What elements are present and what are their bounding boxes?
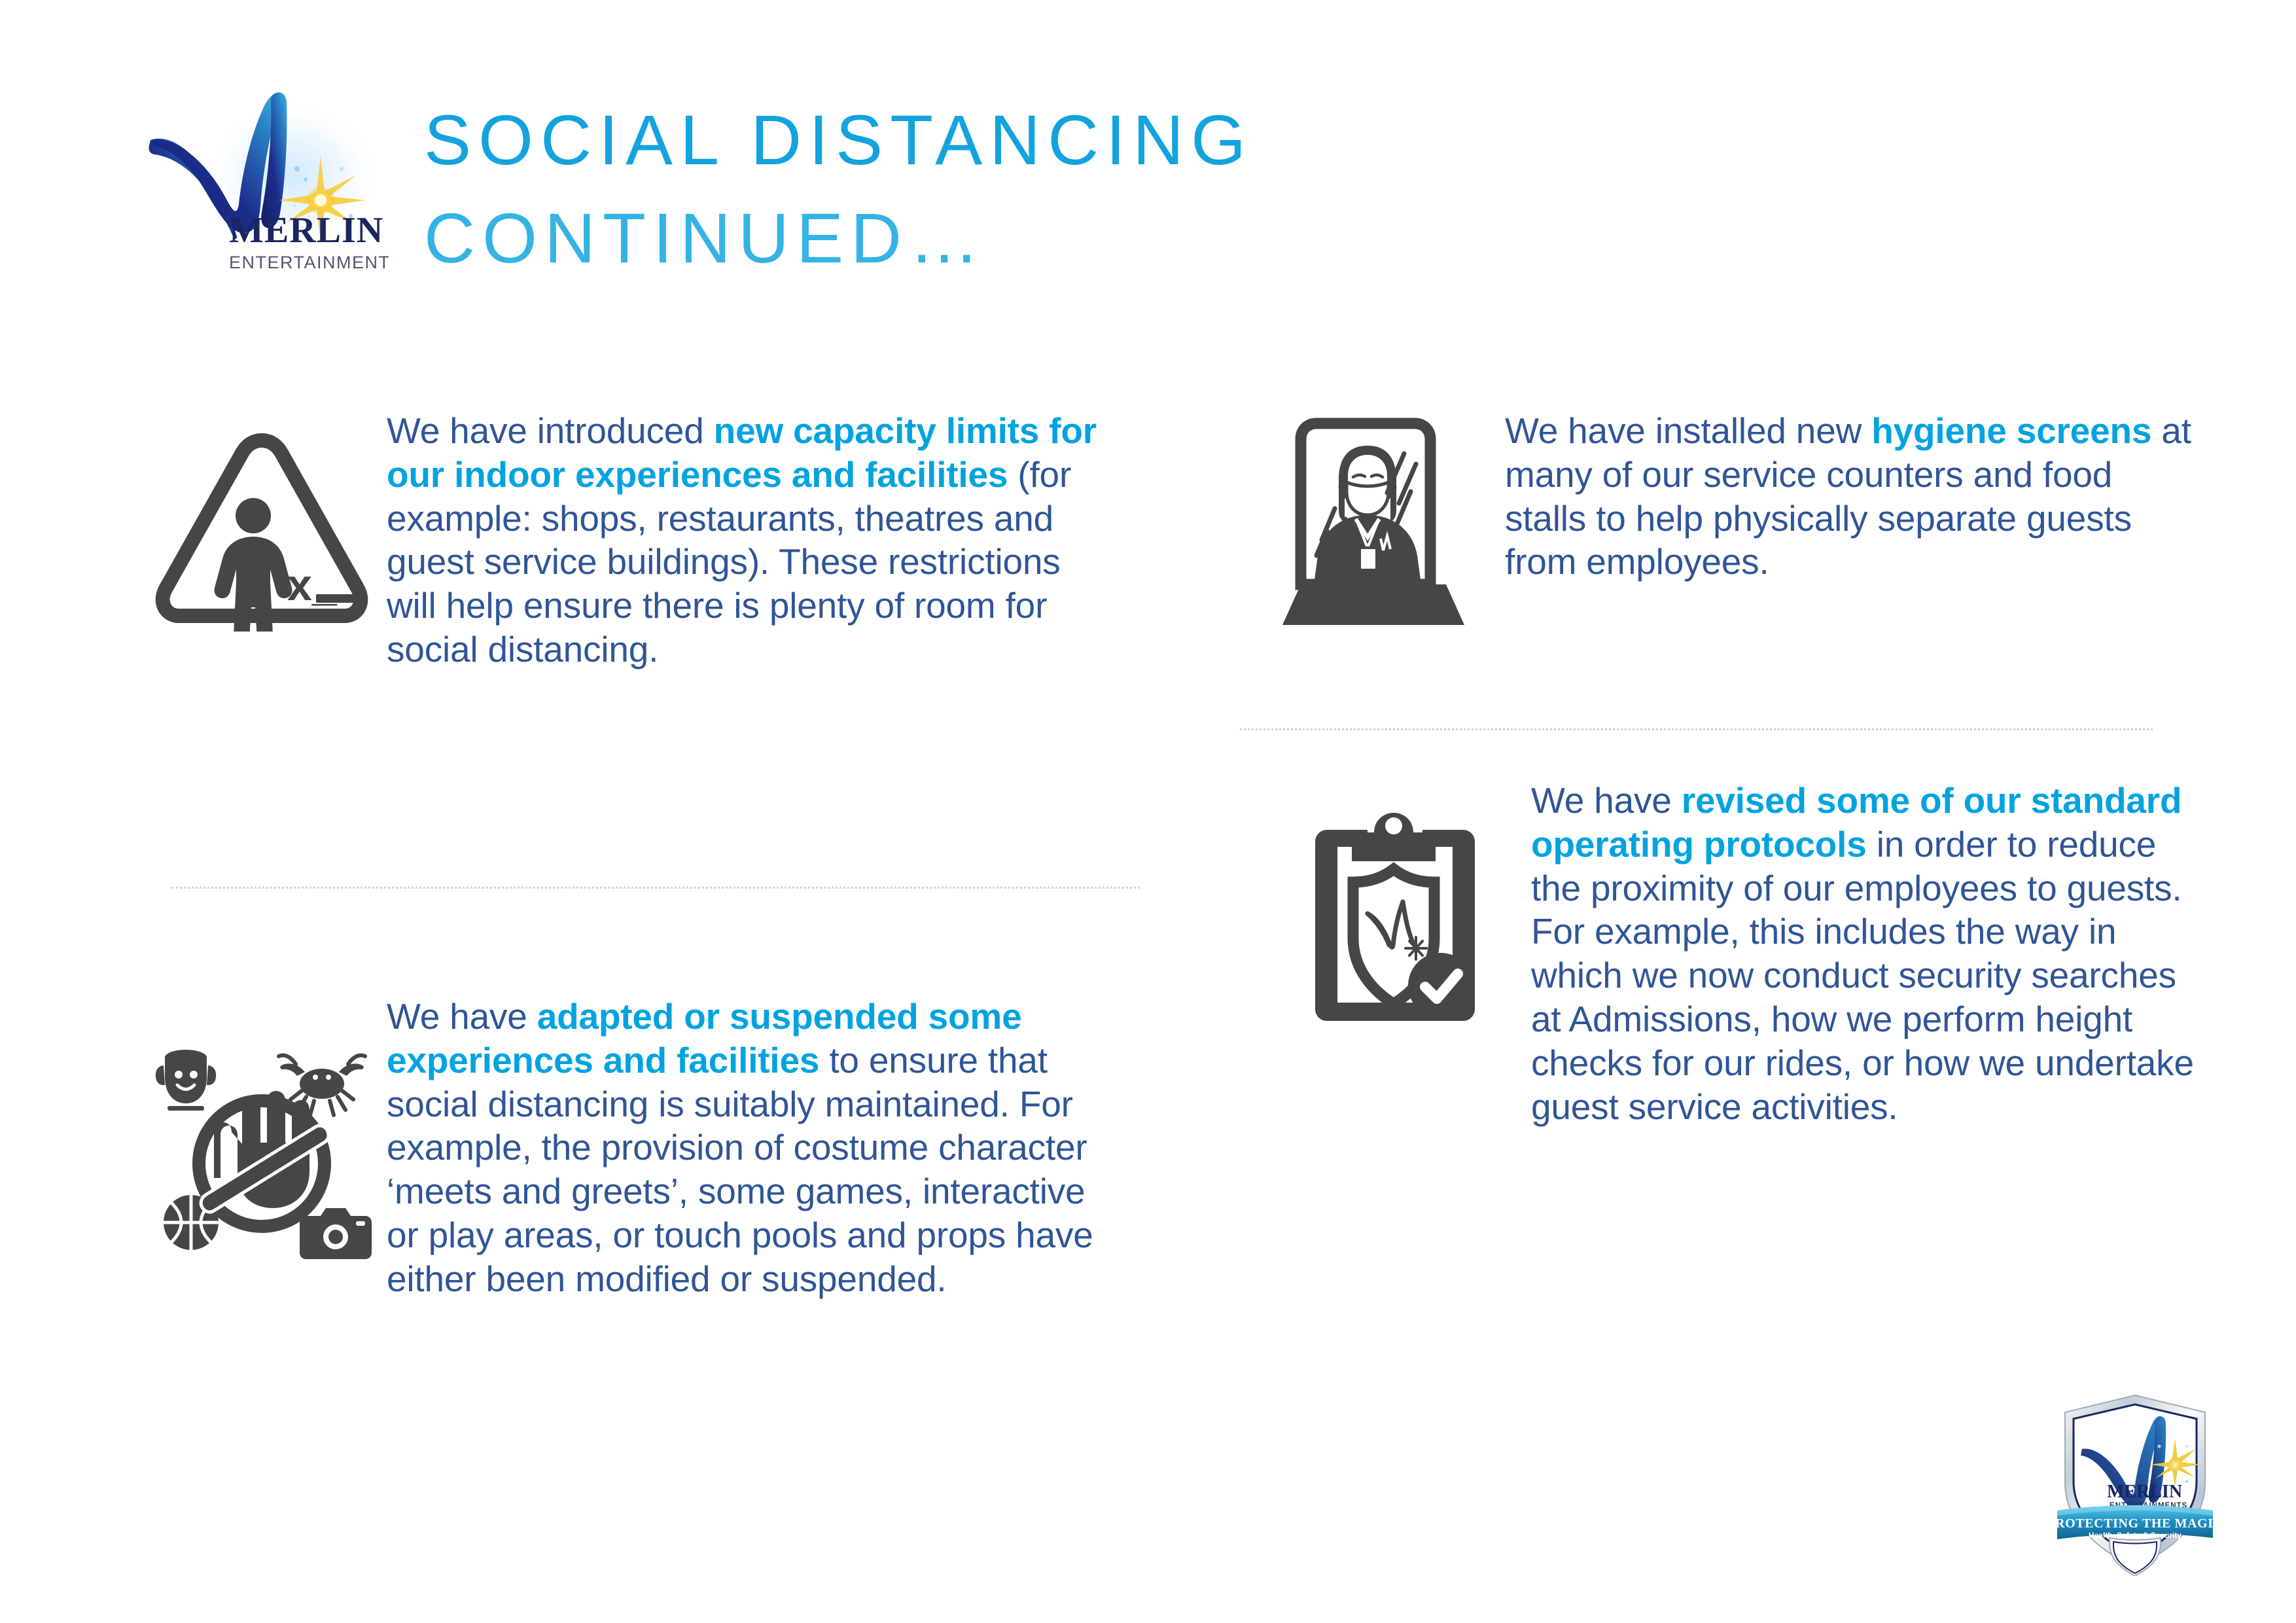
section-divider-left	[171, 887, 1140, 889]
page-title-line2: CONTINUED…	[424, 203, 1253, 274]
badge-ribbon-line2: Health, Safety & Security	[2089, 1531, 2181, 1540]
text-run: We have	[1531, 780, 1682, 821]
capacity-limit-warning-triangle-icon: x_	[147, 409, 376, 632]
protecting-the-magic-badge: MERLIN ENTERTAINMENTS PROTECTING THE MAG…	[2053, 1386, 2217, 1576]
info-block-capacity-text: We have introduced new capacity limits f…	[376, 409, 1116, 671]
page-title: SOCIAL DISTANCING CONTINUED…	[424, 105, 1253, 274]
text-run: in order to reduce the proximity of our …	[1531, 824, 2194, 1127]
text-run: We have	[387, 996, 537, 1037]
camera-icon	[300, 1208, 372, 1259]
info-block-hygiene-screens: We have installed new hygiene screens at…	[1269, 409, 2199, 632]
costume-character-icon	[156, 1050, 216, 1111]
merlin-entertainments-logo: MERLIN ENTERTAINMENTS	[145, 77, 389, 293]
badge-wordmark: MERLIN	[2107, 1482, 2182, 1502]
info-block-protocols-text: We have revised some of our standard ope…	[1492, 779, 2205, 1129]
info-block-no-touch: We have adapted or suspended some experi…	[147, 995, 1116, 1301]
slide-page: MERLIN ENTERTAINMENTS SOCIAL DISTANCING …	[0, 0, 2296, 1623]
text-run: We have installed new	[1505, 410, 1871, 451]
logo-subwordmark: ENTERTAINMENTS	[229, 253, 389, 272]
text-run-highlight: hygiene screens	[1871, 410, 2151, 451]
info-block-no-touch-text: We have adapted or suspended some experi…	[376, 995, 1116, 1301]
text-run: We have introduced	[387, 410, 714, 451]
info-block-protocols: We have revised some of our standard ope…	[1296, 779, 2205, 1129]
merlin-logo-svg: MERLIN ENTERTAINMENTS	[145, 77, 389, 293]
info-block-hygiene-screens-text: We have installed new hygiene screens at…	[1479, 409, 2199, 584]
badge-ribbon-line1: PROTECTING THE MAGIC	[2053, 1516, 2217, 1531]
info-block-capacity: x_ We have introduced new capacity limit…	[147, 409, 1116, 671]
hygiene-screen-employee-icon	[1269, 409, 1479, 632]
page-title-line1: SOCIAL DISTANCING	[424, 105, 1253, 175]
no-touch-experiences-suspended-icon	[147, 995, 376, 1263]
logo-wordmark: MERLIN	[229, 210, 383, 251]
no-touch-hand-icon	[199, 1091, 328, 1226]
section-divider-right	[1240, 728, 2153, 730]
clipboard-shield-check-protocols-icon	[1296, 779, 1492, 1034]
slide-header: MERLIN ENTERTAINMENTS SOCIAL DISTANCING …	[0, 0, 2296, 308]
